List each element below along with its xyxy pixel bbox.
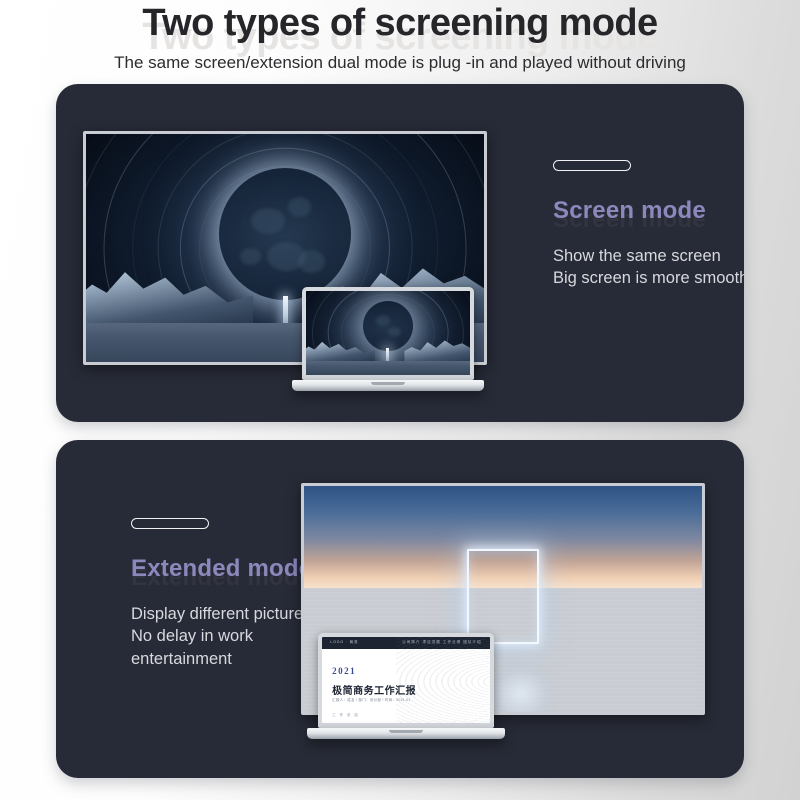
presentation-slide: LOGO · 商务 公司简介 项目进展 工作业绩 团队介绍 2021 极简商务工… bbox=[322, 637, 490, 723]
tower-silhouette bbox=[283, 296, 288, 326]
slide-year: 2021 bbox=[332, 666, 356, 676]
frozen-lake-mirrored bbox=[306, 361, 470, 375]
slide-nav: 公司简介 项目进展 工作业绩 团队介绍 bbox=[402, 640, 482, 645]
moon bbox=[219, 168, 351, 300]
extended-mode-title: Extended mode bbox=[131, 555, 312, 583]
panel-extended-mode: Extended mode Extended mode Display diff… bbox=[56, 440, 744, 778]
laptop-lid bbox=[302, 287, 474, 380]
slide-heading: 极简商务工作汇报 bbox=[332, 682, 416, 697]
laptop-screen-mode bbox=[302, 287, 474, 391]
laptop-trackpad-notch-2 bbox=[389, 730, 423, 733]
screen-mode-description: Show the same screen Big screen is more … bbox=[553, 245, 744, 290]
title-container: Two types of screening mode Two types of… bbox=[0, 0, 800, 48]
panel-screen-mode: Screen mode Screen mode Show the same sc… bbox=[56, 84, 744, 422]
moon-mirrored bbox=[363, 301, 413, 351]
water-reflection-glow bbox=[487, 662, 555, 712]
laptop-screen-content-night bbox=[306, 291, 470, 375]
slide-subheading: 汇报人：姓名 / 部门：设计部 / 时间：2021.01 bbox=[332, 698, 411, 703]
page-header: Two types of screening mode Two types of… bbox=[0, 0, 800, 82]
slide-footer: 工 作 总 结 bbox=[332, 713, 359, 718]
page-background: Two types of screening mode Two types of… bbox=[0, 0, 800, 800]
tower-silhouette-mirrored bbox=[386, 348, 389, 362]
laptop-extended-mode: LOGO · 商务 公司简介 项目进展 工作业绩 团队介绍 2021 极简商务工… bbox=[318, 633, 494, 739]
accent-pill-screen-mode bbox=[553, 160, 631, 171]
slide-logo: LOGO · 商务 bbox=[330, 640, 358, 645]
slide-wave-graphic bbox=[396, 637, 490, 723]
page-subtitle: The same screen/extension dual mode is p… bbox=[0, 53, 800, 73]
screen-mode-title: Screen mode bbox=[553, 197, 706, 225]
laptop-screen-content-presentation: LOGO · 商务 公司简介 项目进展 工作业绩 团队介绍 2021 极简商务工… bbox=[322, 637, 490, 723]
night-sky-scene-mirrored bbox=[306, 291, 470, 375]
laptop-base-2 bbox=[307, 728, 504, 739]
screen-mode-title-container: Screen mode Screen mode bbox=[553, 197, 744, 231]
laptop-base bbox=[292, 380, 485, 391]
screen-mode-text-block: Screen mode Screen mode Show the same sc… bbox=[553, 160, 744, 290]
laptop-trackpad-notch bbox=[371, 382, 405, 385]
neon-square-frame bbox=[467, 549, 539, 644]
laptop-lid-2: LOGO · 商务 公司简介 项目进展 工作业绩 团队介绍 2021 极简商务工… bbox=[318, 633, 494, 728]
accent-pill-extended-mode bbox=[131, 518, 209, 529]
page-title: Two types of screening mode bbox=[0, 2, 800, 45]
